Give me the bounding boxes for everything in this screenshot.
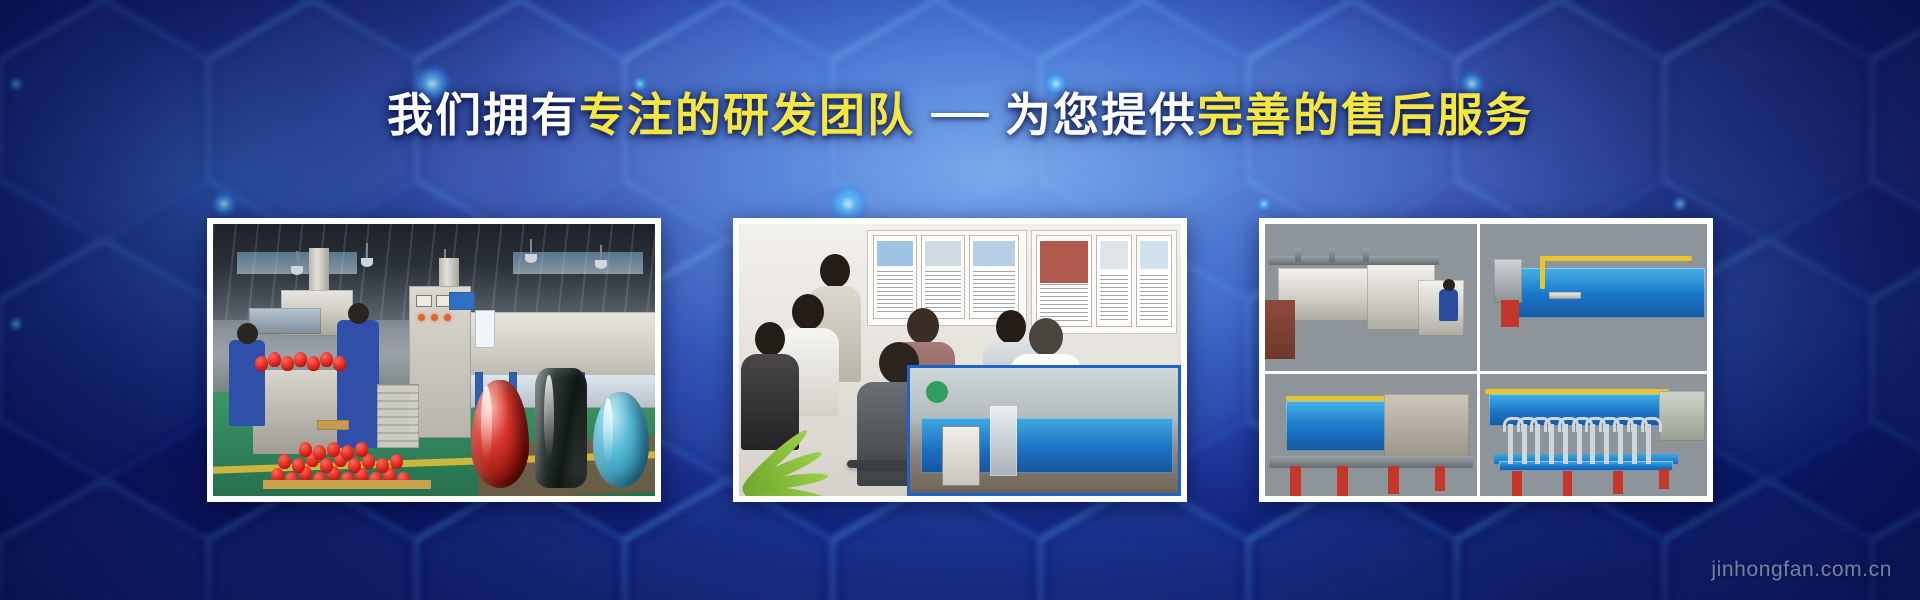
headline-separator-dash	[931, 113, 989, 117]
headline-segment-4: 完善的售后服务	[1197, 89, 1533, 141]
headline-segment-3: 为您提供	[1005, 89, 1197, 141]
photo-3-image	[1265, 224, 1707, 496]
photo-frame-2[interactable]	[733, 218, 1187, 502]
banner-stage: 我们拥有专注的研发团队为您提供完善的售后服务	[0, 0, 1920, 600]
photo-frame-1[interactable]	[207, 218, 661, 502]
photo-row	[0, 218, 1920, 502]
headline-container: 我们拥有专注的研发团队为您提供完善的售后服务	[0, 92, 1920, 138]
site-watermark: jinhongfan.com.cn	[1711, 558, 1892, 582]
storage-crate	[377, 384, 419, 448]
display-board	[1031, 230, 1177, 334]
photo-frame-3[interactable]	[1259, 218, 1713, 502]
collage-panel-1	[1265, 224, 1477, 371]
collage-panel-4	[1480, 374, 1707, 496]
glass-vase-black	[535, 368, 587, 488]
headline-segment-1: 我们拥有	[387, 89, 579, 141]
photo-1-image	[213, 224, 655, 496]
collage-panel-3	[1265, 374, 1477, 496]
photo-2-image	[739, 224, 1181, 496]
collage-panel-2	[1480, 224, 1707, 371]
red-parts-line	[255, 352, 343, 374]
glass-vase-blue	[593, 392, 649, 488]
headline: 我们拥有专注的研发团队为您提供完善的售后服务	[387, 92, 1533, 138]
headline-segment-2: 专注的研发团队	[579, 89, 915, 141]
palm-plant	[739, 384, 883, 496]
inset-machinery-photo	[907, 365, 1181, 496]
